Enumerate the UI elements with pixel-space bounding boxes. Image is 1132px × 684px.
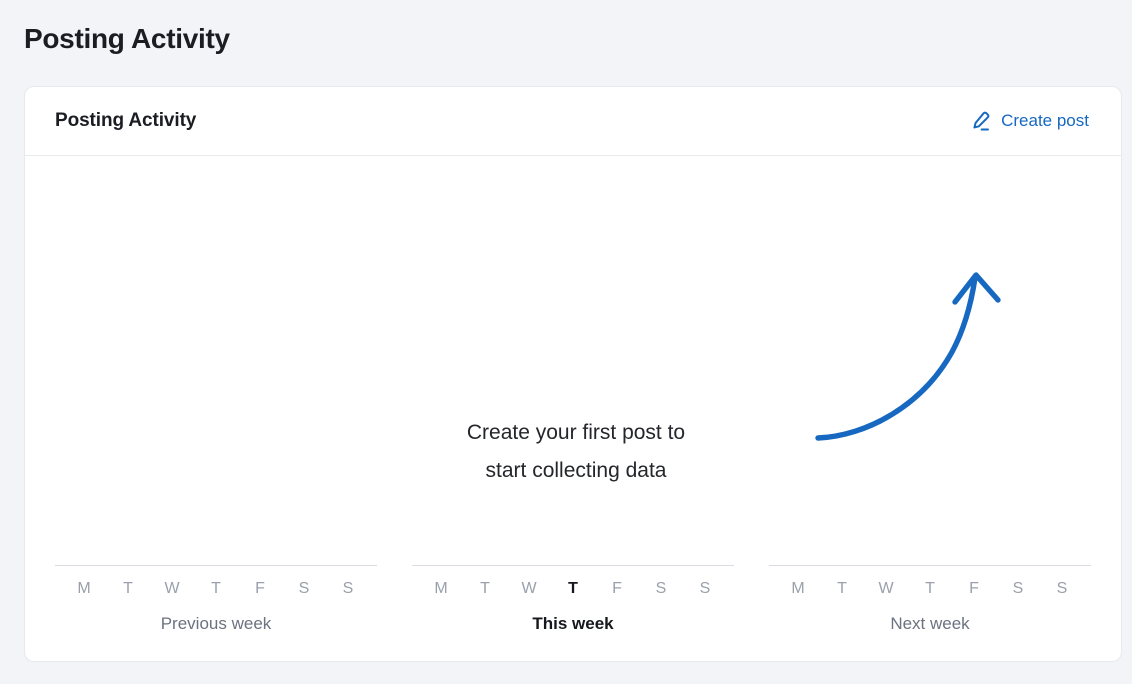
day-letter: W	[520, 580, 538, 598]
week-column-this: M T W T F S S This week	[412, 565, 734, 634]
day-letter: T	[476, 580, 494, 598]
day-letter: T	[921, 580, 939, 598]
day-letter: F	[965, 580, 983, 598]
posting-activity-card: Posting Activity Create post Create your…	[24, 86, 1122, 662]
empty-state-line-2: start collecting data	[31, 452, 1121, 490]
week-rule	[55, 565, 377, 566]
day-letter: M	[432, 580, 450, 598]
week-days-next: M T W T F S S	[769, 580, 1091, 598]
empty-state-line-1: Create your first post to	[31, 414, 1121, 452]
day-letter: S	[1009, 580, 1027, 598]
day-letter: M	[75, 580, 93, 598]
week-days-this: M T W T F S S	[412, 580, 734, 598]
day-letter: T	[833, 580, 851, 598]
day-letter: S	[295, 580, 313, 598]
day-letter: S	[696, 580, 714, 598]
week-label-previous: Previous week	[55, 614, 377, 634]
day-letter-today: T	[564, 580, 582, 598]
page-title: Posting Activity	[24, 18, 230, 60]
day-letter: W	[877, 580, 895, 598]
day-letter: S	[1053, 580, 1071, 598]
card-title: Posting Activity	[55, 110, 196, 132]
week-label-next: Next week	[769, 614, 1091, 634]
card-body: Create your first post to start collecti…	[25, 156, 1121, 662]
day-letter: M	[789, 580, 807, 598]
day-letter: W	[163, 580, 181, 598]
week-rule	[412, 565, 734, 566]
week-rule	[769, 565, 1091, 566]
day-letter: S	[652, 580, 670, 598]
day-letter: S	[339, 580, 357, 598]
week-days-previous: M T W T F S S	[55, 580, 377, 598]
day-letter: F	[608, 580, 626, 598]
empty-state-message: Create your first post to start collecti…	[25, 414, 1121, 490]
day-letter: T	[207, 580, 225, 598]
day-letter: T	[119, 580, 137, 598]
pencil-edit-icon	[968, 110, 991, 133]
week-label-this: This week	[412, 614, 734, 634]
week-column-next: M T W T F S S Next week	[769, 565, 1091, 634]
day-letter: F	[251, 580, 269, 598]
week-column-previous: M T W T F S S Previous week	[55, 565, 377, 634]
weeks-footer: M T W T F S S Previous week M T W T F	[25, 565, 1121, 634]
create-post-button[interactable]: Create post	[968, 110, 1089, 133]
create-post-label: Create post	[1001, 111, 1089, 131]
card-header: Posting Activity Create post	[25, 87, 1121, 156]
